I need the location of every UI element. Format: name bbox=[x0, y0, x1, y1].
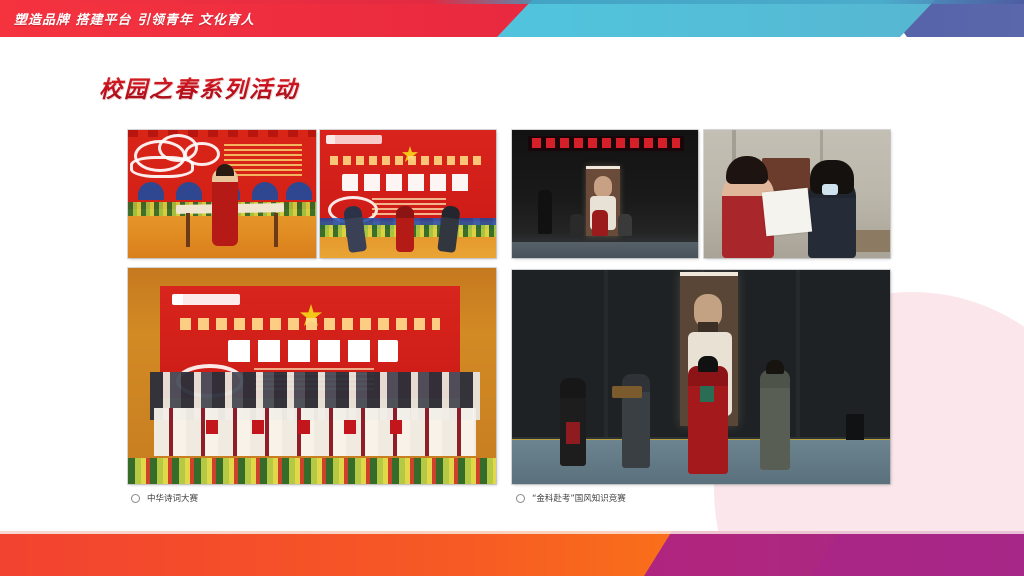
backdrop-subtitle bbox=[180, 318, 440, 330]
face-mask bbox=[822, 184, 838, 195]
circle-bullet-icon bbox=[131, 494, 140, 503]
instrument-stand bbox=[274, 213, 278, 247]
footer-banner bbox=[0, 531, 1024, 576]
photo-group bbox=[128, 268, 496, 484]
performer-red-robe bbox=[688, 366, 728, 474]
certificate bbox=[344, 420, 356, 434]
certificate bbox=[206, 420, 218, 434]
backdrop-scallop bbox=[128, 130, 316, 137]
performer bbox=[570, 214, 584, 236]
backdrop-main-title bbox=[342, 174, 474, 191]
certificate bbox=[252, 420, 264, 434]
footer-top-line bbox=[0, 531, 1024, 534]
photo-students-content bbox=[704, 130, 890, 258]
exam-paper bbox=[762, 188, 812, 237]
portrait-face bbox=[594, 176, 612, 198]
certificate bbox=[298, 420, 310, 434]
performer-tray bbox=[612, 386, 642, 398]
photo-costume-stage-content bbox=[512, 270, 890, 484]
performer-hat bbox=[766, 360, 784, 374]
school-logo bbox=[172, 294, 240, 305]
photo-guzheng-content bbox=[128, 130, 316, 258]
header-slogan: 塑造品牌 搭建平台 引领青年 文化育人 bbox=[14, 9, 255, 28]
photo-dancers bbox=[320, 130, 496, 258]
photo-guzheng bbox=[128, 130, 316, 258]
certificate bbox=[390, 420, 402, 434]
performer bbox=[592, 210, 608, 236]
performer-olive-robe bbox=[760, 370, 790, 470]
front-row-people bbox=[154, 408, 476, 456]
slide: 塑造品牌 搭建平台 引领青年 文化育人 校园之春系列活动 bbox=[0, 0, 1024, 576]
caption-exam: “金科赴考”国风知识竞赛 bbox=[516, 492, 626, 504]
stage-floor bbox=[512, 242, 698, 258]
cloud-motif bbox=[130, 156, 194, 178]
performer bbox=[538, 190, 552, 234]
photo-group-content bbox=[128, 268, 496, 484]
circle-bullet-icon bbox=[516, 494, 525, 503]
photo-students bbox=[704, 130, 890, 258]
caption-poetry-label: 中华诗词大赛 bbox=[147, 492, 198, 504]
school-logo bbox=[326, 135, 382, 144]
backdrop-main-title bbox=[228, 340, 398, 362]
stage-speaker bbox=[846, 414, 864, 440]
caption-poetry: 中华诗词大赛 bbox=[131, 492, 198, 504]
performer-prop bbox=[566, 422, 580, 444]
guzheng-performer bbox=[212, 168, 238, 246]
header-top-line bbox=[0, 0, 1024, 4]
flower-row bbox=[128, 458, 496, 484]
dancer bbox=[396, 206, 414, 252]
performer-hair bbox=[216, 164, 234, 176]
performer-collar bbox=[700, 386, 714, 402]
performer-hat bbox=[698, 356, 718, 372]
page-title: 校园之春系列活动 bbox=[99, 70, 299, 104]
instrument-stand bbox=[186, 213, 190, 247]
photo-dark-stage-content bbox=[512, 130, 698, 258]
led-banner-text bbox=[532, 138, 680, 148]
caption-exam-label: “金科赴考”国风知识竞赛 bbox=[532, 492, 626, 504]
photo-costume-stage bbox=[512, 270, 890, 484]
performer bbox=[618, 214, 632, 236]
photo-dancers-content bbox=[320, 130, 496, 258]
backdrop-subtitle bbox=[330, 156, 486, 165]
photo-dark-stage bbox=[512, 130, 698, 258]
header-banner: 塑造品牌 搭建平台 引领青年 文化育人 bbox=[0, 0, 1024, 37]
